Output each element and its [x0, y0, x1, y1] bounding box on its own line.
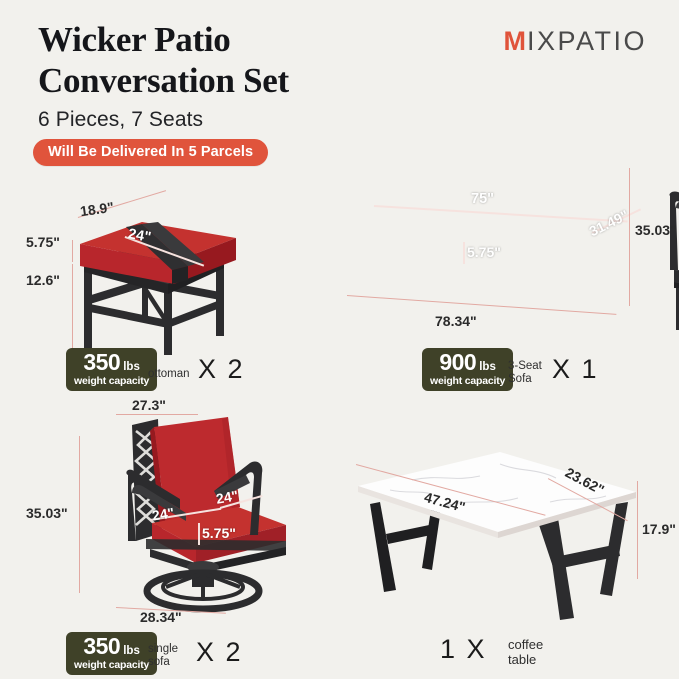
single-sofa-part-name: single sofa	[148, 643, 178, 669]
product-ottoman: 18.9" 24" 5.75" 12.6" 350lbs weight capa…	[0, 0, 330, 400]
chair-dim-24-a: 24"	[151, 504, 175, 523]
sofa-dim-31-49: 31.49"	[587, 207, 631, 240]
ottoman-illustration	[68, 200, 258, 350]
single-sofa-capacity-value: 350	[83, 633, 120, 659]
table-height-line	[637, 481, 638, 579]
sofa-dim-35-03: 35.03"	[635, 222, 677, 238]
single-sofa-part-name-line1: single	[148, 643, 178, 655]
sofa-cushion-line	[463, 242, 465, 264]
sofa-overallheight-line	[629, 168, 630, 306]
product-sofa: 75" 31.49" 5.75" 78.34" 35.03" 900lbs we…	[330, 0, 679, 400]
sofa-dim-75: 75"	[471, 191, 494, 207]
sofa-quantity: X 1	[552, 354, 599, 385]
sofa-capacity-value: 900	[439, 349, 476, 375]
sofa-overallwidth-line	[347, 295, 616, 315]
sofa-seatwidth-line	[374, 205, 628, 222]
ottoman-capacity-label: weight capacity	[74, 376, 149, 387]
sofa-part-name-line1: 3-Seat	[508, 360, 542, 372]
sofa-dim-5-75: 5.75"	[467, 244, 501, 260]
ottoman-height-line	[72, 264, 73, 350]
product-single-sofa: 27.3" 35.03" 24" 24" 5.75" 28.34" 350lbs…	[0, 395, 330, 679]
ottoman-part-name: ottoman	[148, 368, 190, 381]
table-dim-17-9: 17.9"	[642, 521, 676, 537]
ottoman-dim-12-6: 12.6"	[26, 272, 60, 288]
single-sofa-part-name-line2: sofa	[148, 656, 170, 668]
sofa-capacity-unit: lbs	[479, 361, 496, 373]
chair-dim-35-03: 35.03"	[26, 505, 68, 521]
chair-dim-28-34: 28.34"	[140, 609, 182, 625]
sofa-part-name: 3-Seat Sofa	[508, 360, 542, 386]
infographic-root: Wicker Patio Conversation Set 6 Pieces, …	[0, 0, 679, 679]
chair-cushion-line	[198, 523, 200, 545]
single-sofa-capacity-label: weight capacity	[74, 660, 149, 671]
product-coffee-table: 47.24" 23.62" 17.9" 1 X coffee table	[330, 395, 679, 679]
chair-height-line	[79, 436, 80, 593]
coffee-table-quantity: 1 X	[440, 634, 487, 665]
chair-dim-27-3: 27.3"	[132, 397, 166, 413]
ottoman-capacity-value: 350	[83, 349, 120, 375]
single-sofa-capacity-badge: 350lbs weight capacity	[66, 632, 157, 675]
sofa-capacity-badge: 900lbs weight capacity	[422, 348, 513, 391]
sofa-capacity-label: weight capacity	[430, 376, 505, 387]
sofa-illustration	[666, 152, 679, 337]
ottoman-capacity-badge: 350lbs weight capacity	[66, 348, 157, 391]
sofa-dim-78-34: 78.34"	[435, 313, 477, 329]
coffee-table-part-name-line1: coffee	[508, 637, 543, 652]
chair-dim-5-75: 5.75"	[202, 525, 236, 541]
single-sofa-capacity-unit: lbs	[123, 645, 140, 657]
sofa-part-name-line2: Sofa	[508, 373, 532, 385]
ottoman-cushion-line	[72, 240, 73, 262]
ottoman-quantity: X 2	[198, 354, 245, 385]
single-sofa-quantity: X 2	[196, 637, 243, 668]
coffee-table-part-name: coffee table	[508, 638, 543, 668]
ottoman-dim-5-75: 5.75"	[26, 234, 60, 250]
ottoman-capacity-unit: lbs	[123, 361, 140, 373]
coffee-table-part-name-line2: table	[508, 652, 536, 667]
chair-backwidth-line	[116, 414, 198, 415]
